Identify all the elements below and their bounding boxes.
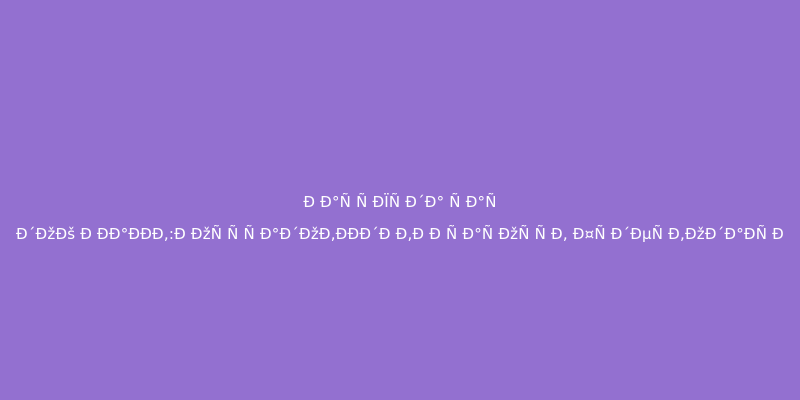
message-line-secondary: Ð´ÐžÐš Ð ÐÐ°ÐÐÐ,:Ð ÐžÑ Ñ Ñ Ð°Ð´ÐžÐ,ÐÐÐ´Ð… — [16, 218, 784, 250]
message-line-primary: Ð Ð°Ñ Ñ ÐÏÑ Ð´Ð° Ñ Ð°Ñ — [303, 186, 496, 218]
page-root: Ð Ð°Ñ Ñ ÐÏÑ Ð´Ð° Ñ Ð°Ñ Ð´ÐžÐš Ð ÐÐ°ÐÐÐ,:… — [0, 0, 800, 400]
message-block: Ð Ð°Ñ Ñ ÐÏÑ Ð´Ð° Ñ Ð°Ñ Ð´ÐžÐš Ð ÐÐ°ÐÐÐ,:… — [0, 0, 800, 400]
